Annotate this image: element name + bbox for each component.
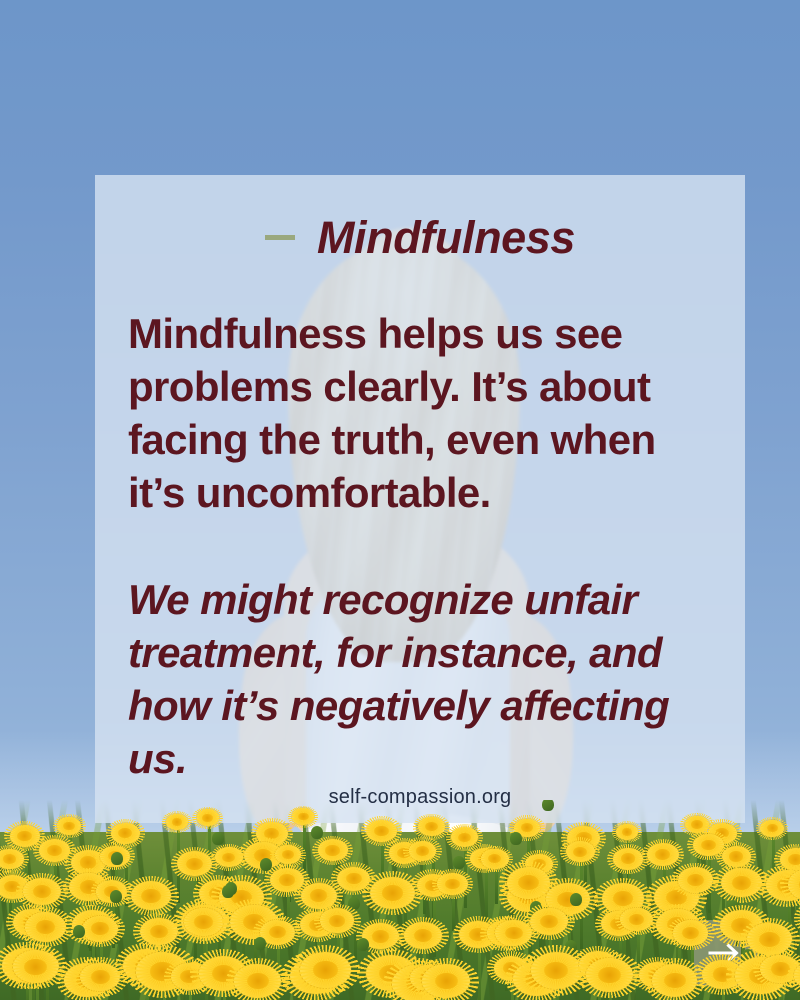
dandelion-bloom: [788, 869, 800, 900]
quote-body: Mindfulness helps us see problems clearl…: [128, 307, 717, 785]
dandelion-bloom: [422, 964, 470, 998]
dandelion-bloom: [300, 952, 351, 989]
dandelion-bloom: [530, 908, 568, 935]
dandelion-bud: [453, 856, 465, 869]
quote-card: Mindfulness Mindfulness helps us see pro…: [95, 175, 745, 823]
em-dash-rule-icon: [265, 235, 295, 240]
dandelion-bloom: [184, 908, 223, 936]
dandelion-bloom: [616, 824, 639, 840]
dandelion-bloom: [647, 843, 678, 866]
dandelion-bloom: [481, 849, 508, 868]
dandelion-bloom: [437, 873, 467, 895]
dandelion-bloom: [318, 839, 348, 861]
quote-paragraph-2: We might recognize unfair treatment, for…: [128, 573, 717, 785]
dandelion-bloom: [166, 814, 188, 830]
dandelion-bloom: [275, 845, 301, 864]
dandelion-bloom: [177, 851, 212, 876]
dandelion-bud: [542, 800, 554, 811]
dandelion-bloom: [418, 817, 445, 836]
dandelion-bloom: [620, 908, 652, 931]
dandelion-bloom: [794, 961, 800, 990]
dandelion-bloom: [652, 964, 697, 997]
dandelion-bloom: [678, 867, 713, 892]
dandelion-bud: [570, 893, 582, 906]
dandelion-bloom: [131, 881, 172, 910]
dandelion-bud: [222, 885, 234, 898]
dandelion-bloom: [111, 823, 140, 844]
dandelion-bud: [212, 832, 224, 845]
dandelion-field: [0, 800, 800, 1000]
dandelion-bloom: [409, 841, 437, 861]
dandelion-bloom: [566, 841, 595, 862]
dandelion-bud: [357, 938, 369, 951]
mindfulness-quote-poster: Mindfulness Mindfulness helps us see pro…: [0, 0, 800, 1000]
card-kicker: Mindfulness: [95, 215, 745, 260]
dandelion-bud: [510, 832, 522, 845]
dandelion-bloom: [13, 950, 59, 983]
dandelion-bud: [73, 925, 85, 938]
dandelion-bloom: [197, 809, 220, 825]
dandelion-bloom: [404, 922, 442, 949]
website-credit: self-compassion.org: [95, 786, 745, 809]
dandelion-bloom: [140, 918, 178, 945]
dandelion-bloom: [451, 827, 478, 847]
dandelion-bloom: [760, 820, 784, 837]
dandelion-bloom: [366, 820, 396, 842]
dandelion-bloom: [370, 877, 415, 909]
dandelion-bud: [111, 852, 123, 865]
quote-paragraph-1: Mindfulness helps us see problems clearl…: [128, 307, 717, 519]
dandelion-bloom: [673, 920, 708, 945]
dandelion-bloom: [721, 868, 762, 898]
page-title: Mindfulness: [317, 215, 575, 260]
dandelion-bloom: [613, 848, 644, 870]
dandelion-bloom: [234, 964, 281, 998]
dandelion-bloom: [23, 878, 61, 906]
dandelion-bloom: [82, 916, 118, 942]
dandelion-bloom: [586, 958, 634, 992]
dandelion-bloom: [320, 908, 354, 933]
dandelion-bud: [254, 937, 266, 950]
dandelion-bloom: [292, 808, 315, 824]
dandelion-bud: [110, 890, 122, 903]
dandelion-bloom: [0, 849, 24, 870]
dandelion-bloom: [25, 912, 66, 942]
dandelion-bloom: [57, 817, 81, 834]
